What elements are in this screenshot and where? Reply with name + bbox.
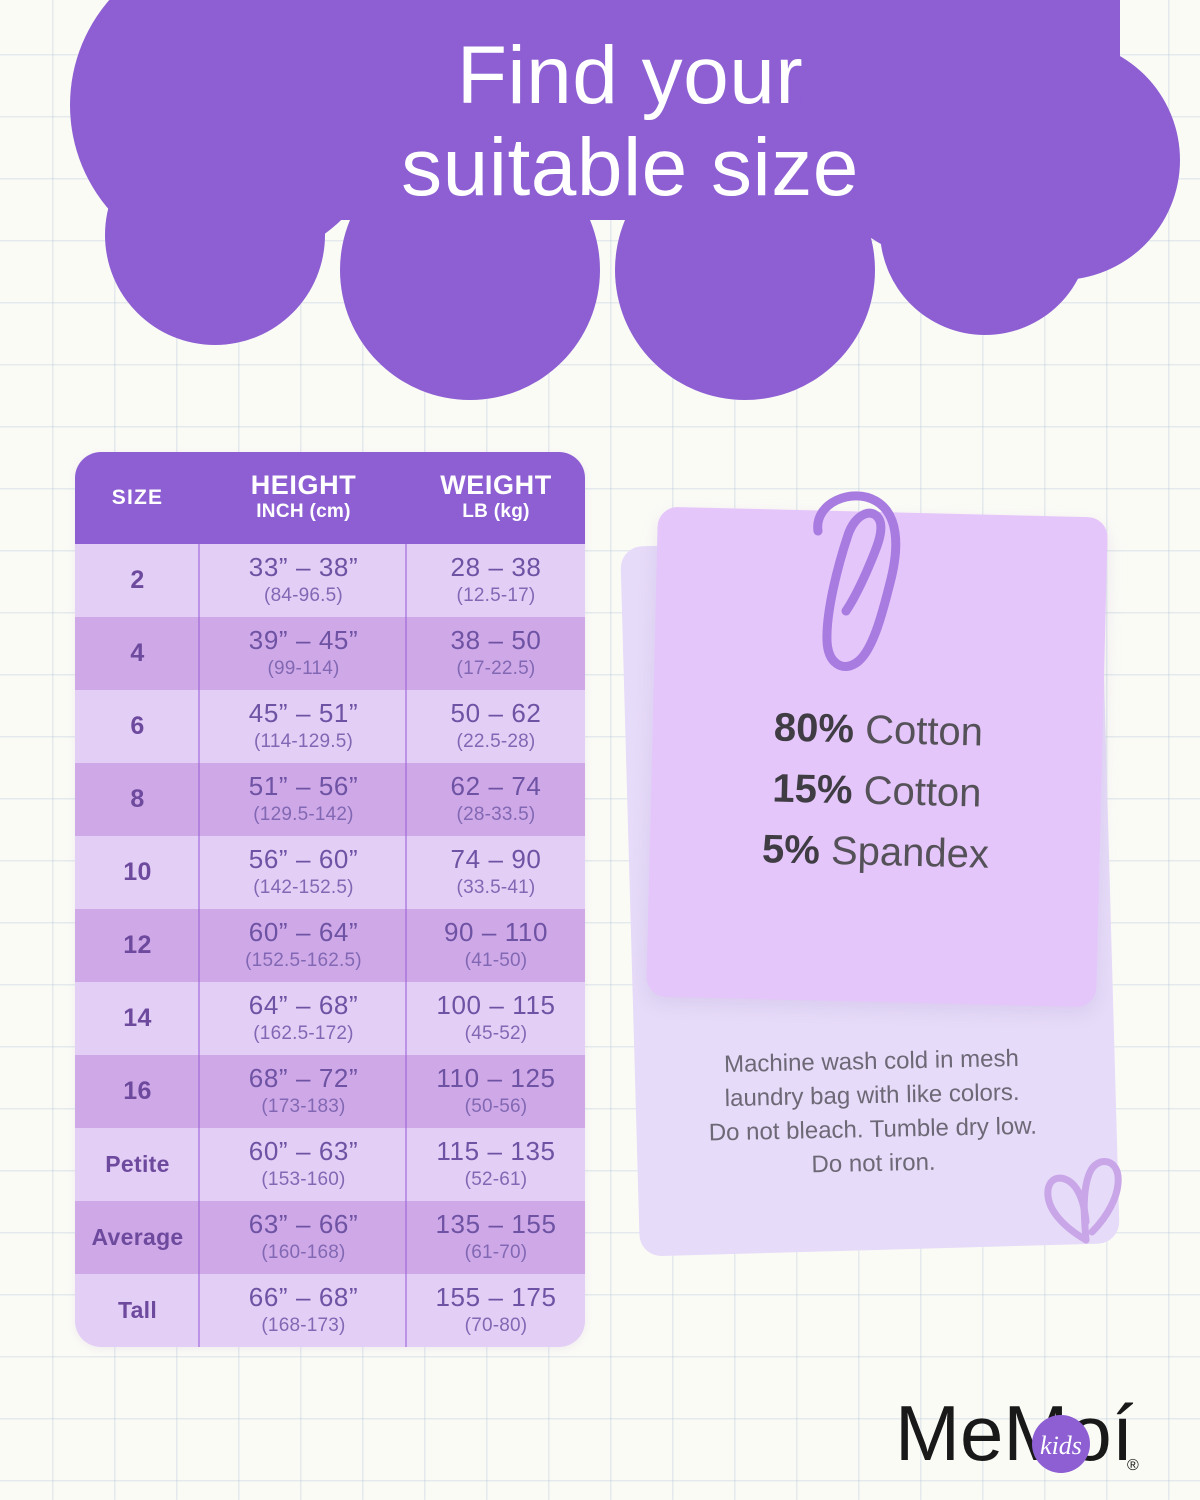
height-inches: 64” – 68” [249,991,358,1020]
weight-lb: 110 – 125 [436,1064,555,1093]
weight-lb: 62 – 74 [451,772,542,801]
weight-lb: 155 – 175 [435,1283,556,1312]
height-inches: 51” – 56” [249,772,358,801]
weight-kg: (12.5-17) [457,584,536,609]
cell-height: 33” – 38”(84-96.5) [200,544,407,617]
cell-weight: 28 – 38(12.5-17) [407,544,585,617]
table-header-row: SIZE HEIGHT INCH (cm) WEIGHT LB (kg) [75,452,585,544]
size-value: 14 [123,1004,151,1033]
size-value: 10 [123,858,151,887]
size-value: 16 [123,1077,151,1106]
table-row: 233” – 38”(84-96.5)28 – 38(12.5-17) [75,544,585,617]
size-value: 8 [130,785,144,814]
weight-lb: 115 – 135 [436,1137,555,1166]
composition-line: 80% Cotton [653,695,1104,767]
weight-lb: 28 – 38 [451,553,542,582]
composition-line: 5% Spandex [650,816,1101,888]
composition-percent: 15% [772,766,853,812]
size-value: Tall [118,1297,157,1324]
height-inches: 45” – 51” [249,699,358,728]
height-cm: (168-173) [261,1314,345,1339]
cell-height: 68” – 72”(173-183) [200,1055,407,1128]
height-cm: (153-160) [261,1168,345,1193]
height-cm: (84-96.5) [264,584,343,609]
cell-height: 39” – 45”(99-114) [200,617,407,690]
composition-material: Spandex [831,828,990,876]
page-title: Find your suitable size [130,30,1130,214]
cell-height: 51” – 56”(129.5-142) [200,763,407,836]
weight-lb: 50 – 62 [451,699,542,728]
cell-height: 63” – 66”(160-168) [200,1201,407,1274]
weight-lb: 90 – 110 [444,918,548,947]
cell-size: 12 [75,909,200,982]
weight-kg: (33.5-41) [457,876,536,901]
cell-weight: 74 – 90(33.5-41) [407,836,585,909]
height-inches: 56” – 60” [249,845,358,874]
height-inches: 39” – 45” [249,626,358,655]
weight-kg: (50-56) [465,1095,528,1120]
table-row: 1056” – 60”(142-152.5)74 – 90(33.5-41) [75,836,585,909]
cell-size: 2 [75,544,200,617]
cell-weight: 90 – 110(41-50) [407,909,585,982]
size-value: 6 [130,712,144,741]
size-value: Average [91,1224,183,1251]
heart-icon [1040,1152,1140,1247]
weight-kg: (28-33.5) [457,803,536,828]
table-row: Tall66” – 68”(168-173)155 – 175(70-80) [75,1274,585,1347]
table-body: 233” – 38”(84-96.5)28 – 38(12.5-17)439” … [75,544,585,1347]
table-row: 1260” – 64”(152.5-162.5)90 – 110(41-50) [75,909,585,982]
height-cm: (114-129.5) [254,730,353,755]
size-value: 4 [130,639,144,668]
height-inches: 66” – 68” [249,1283,358,1312]
logo-wordmark: MeMoí [895,1390,1134,1477]
height-cm: (142-152.5) [253,876,353,901]
weight-kg: (41-50) [465,949,528,974]
cell-weight: 50 – 62(22.5-28) [407,690,585,763]
cell-height: 45” – 51”(114-129.5) [200,690,407,763]
column-header-weight: WEIGHT LB (kg) [407,452,585,544]
height-cm: (129.5-142) [253,803,353,828]
cell-size: 10 [75,836,200,909]
height-inches: 68” – 72” [249,1064,358,1093]
cell-height: 60” – 63”(153-160) [200,1128,407,1201]
cell-weight: 135 – 155(61-70) [407,1201,585,1274]
cell-size: 4 [75,617,200,690]
cell-weight: 38 – 50(17-22.5) [407,617,585,690]
weight-lb: 135 – 155 [435,1210,556,1239]
weight-kg: (52-61) [465,1168,528,1193]
cell-height: 64” – 68”(162.5-172) [200,982,407,1055]
paperclip-icon [800,487,920,677]
height-cm: (152.5-162.5) [245,949,362,974]
height-inches: 63” – 66” [249,1210,358,1239]
cell-size: 14 [75,982,200,1055]
cell-height: 60” – 64”(152.5-162.5) [200,909,407,982]
weight-kg: (70-80) [465,1314,528,1339]
weight-lb: 38 – 50 [451,626,542,655]
height-inches: 60” – 63” [249,1137,358,1166]
size-value: 2 [130,566,144,595]
column-header-size: SIZE [75,452,200,544]
cell-size: Petite [75,1128,200,1201]
cell-size: Tall [75,1274,200,1347]
height-cm: (173-183) [261,1095,345,1120]
composition-material: Cotton [865,708,984,755]
brand-logo: MeMoí kids ® [895,1390,1145,1485]
weight-kg: (17-22.5) [457,657,536,682]
table-row: Petite60” – 63”(153-160)115 – 135(52-61) [75,1128,585,1201]
table-row: Average63” – 66”(160-168)135 – 155(61-70… [75,1201,585,1274]
cell-weight: 155 – 175(70-80) [407,1274,585,1347]
size-value: Petite [105,1151,169,1178]
composition-line: 15% Cotton [651,755,1102,827]
logo-trademark-icon: ® [1127,1457,1139,1474]
table-row: 1464” – 68”(162.5-172)100 – 115(45-52) [75,982,585,1055]
title-line-2: suitable size [130,122,1130,214]
cell-weight: 115 – 135(52-61) [407,1128,585,1201]
cell-weight: 110 – 125(50-56) [407,1055,585,1128]
cell-weight: 100 – 115(45-52) [407,982,585,1055]
weight-kg: (61-70) [465,1241,528,1266]
weight-lb: 74 – 90 [451,845,542,874]
weight-kg: (22.5-28) [457,730,536,755]
table-row: 439” – 45”(99-114)38 – 50(17-22.5) [75,617,585,690]
column-header-height: HEIGHT INCH (cm) [200,452,407,544]
title-line-1: Find your [130,30,1130,122]
height-cm: (99-114) [267,657,339,682]
table-row: 645” – 51”(114-129.5)50 – 62(22.5-28) [75,690,585,763]
cell-size: 6 [75,690,200,763]
size-chart-table: SIZE HEIGHT INCH (cm) WEIGHT LB (kg) 233… [75,452,585,1347]
cell-size: Average [75,1201,200,1274]
composition-percent: 5% [762,827,821,872]
care-instructions: Machine wash cold in mesh laundry bag wi… [644,1040,1102,1186]
cell-weight: 62 – 74(28-33.5) [407,763,585,836]
table-row: 851” – 56”(129.5-142)62 – 74(28-33.5) [75,763,585,836]
logo-kids-label: kids [1040,1431,1082,1460]
height-inches: 60” – 64” [249,918,358,947]
cell-height: 66” – 68”(168-173) [200,1274,407,1347]
fabric-composition: 80% Cotton 15% Cotton 5% Spandex [650,695,1104,888]
cell-size: 8 [75,763,200,836]
cell-size: 16 [75,1055,200,1128]
weight-kg: (45-52) [465,1022,528,1047]
height-cm: (160-168) [261,1241,345,1266]
table-row: 1668” – 72”(173-183)110 – 125(50-56) [75,1055,585,1128]
weight-lb: 100 – 115 [436,991,555,1020]
height-inches: 33” – 38” [249,553,358,582]
cell-height: 56” – 60”(142-152.5) [200,836,407,909]
size-value: 12 [123,931,151,960]
composition-percent: 80% [773,705,854,751]
height-cm: (162.5-172) [253,1022,353,1047]
composition-material: Cotton [863,768,982,815]
